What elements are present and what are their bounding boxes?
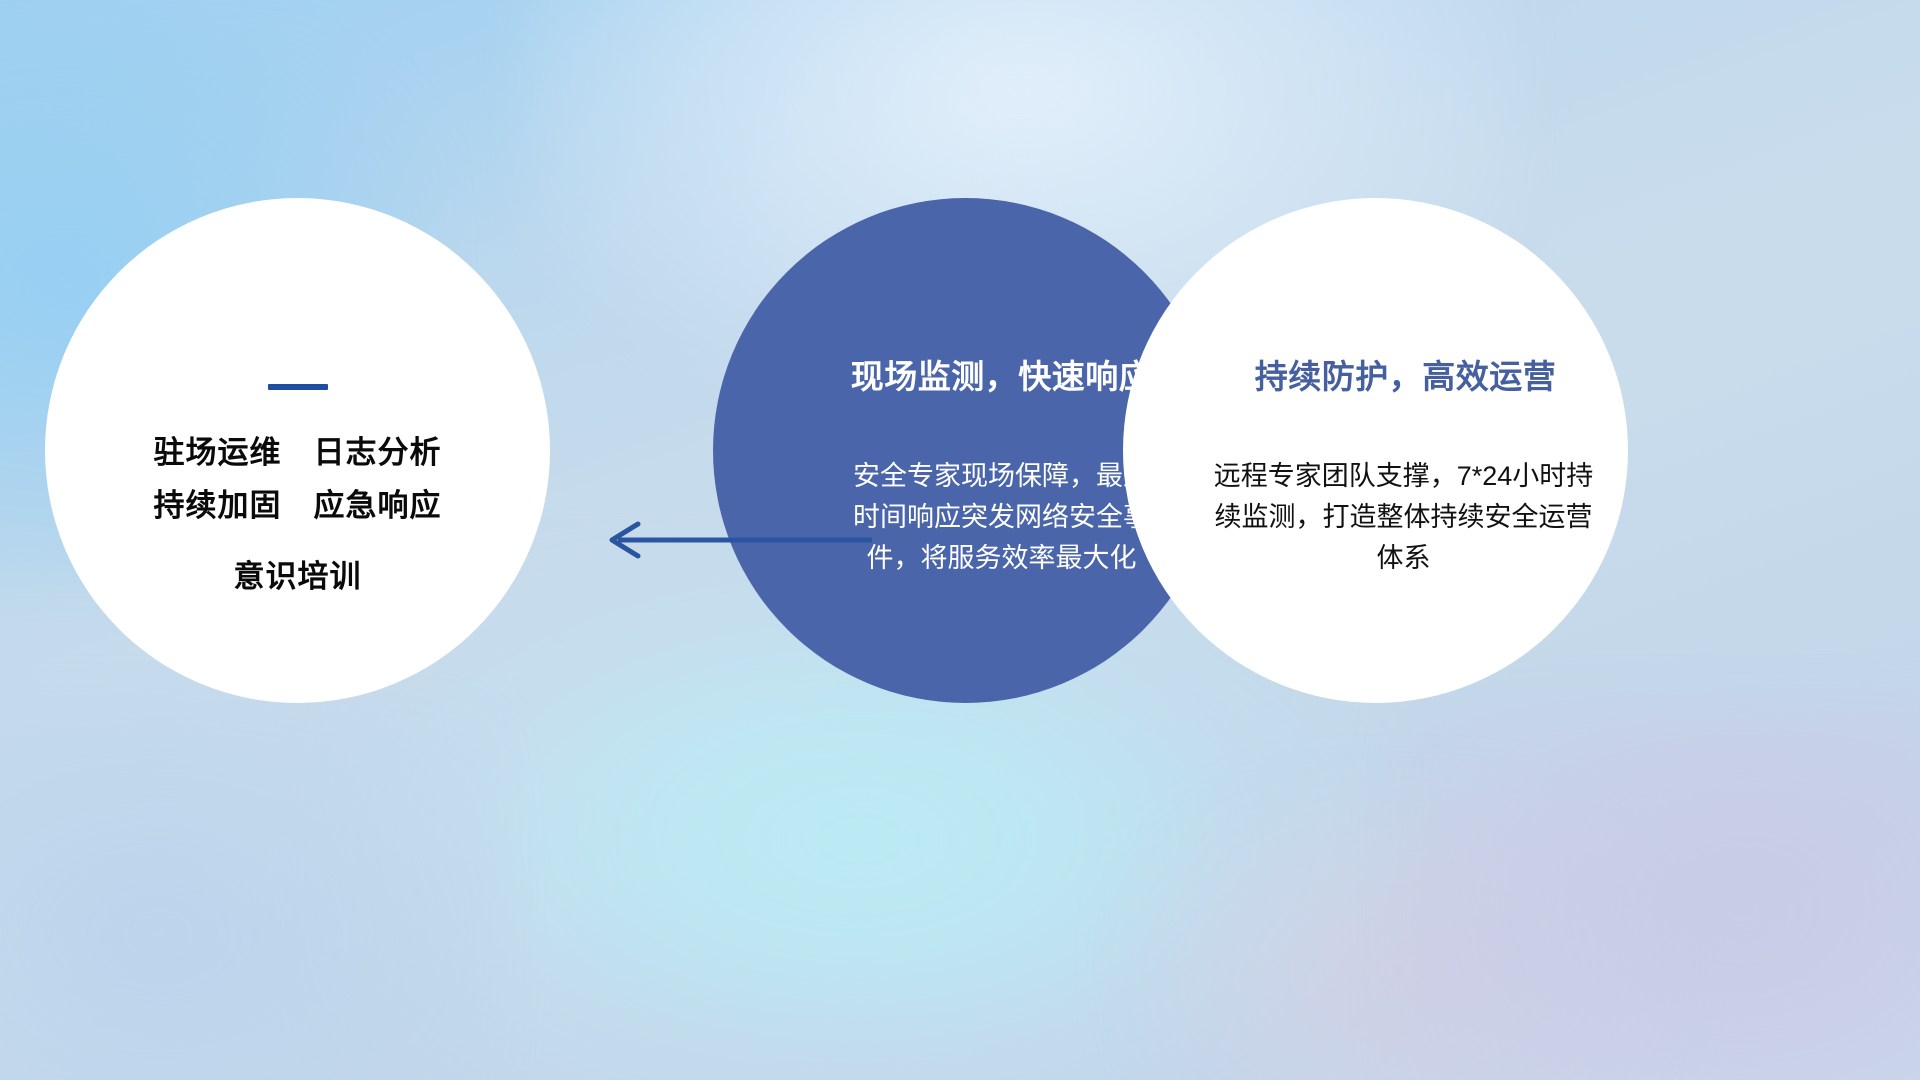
onsite-monitoring-title: 现场监测，快速响应	[851, 350, 1153, 398]
capabilities-list: 驻场运维 日志分析 持续加固 应急响应 意识培训	[154, 434, 442, 596]
capabilities-line-3: 意识培训	[234, 558, 362, 597]
capabilities-line-1: 驻场运维 日志分析	[154, 434, 442, 473]
background-glow-lavender-bottom-right	[1400, 700, 1920, 1080]
slide-canvas: 驻场运维 日志分析 持续加固 应急响应 意识培训 现场监测，快速响应 安全专家现…	[0, 0, 1920, 1080]
continuous-protection-title: 持续防护，高效运营	[1255, 350, 1557, 398]
capabilities-line-2: 持续加固 应急响应	[154, 487, 442, 526]
continuous-protection-content: 持续防护，高效运营 远程专家团队支撑，7*24小时持续监测，打造整体持续安全运营…	[1123, 198, 1628, 703]
capabilities-circle-content: 驻场运维 日志分析 持续加固 应急响应 意识培训	[45, 198, 550, 703]
background-glow-bottom-left	[0, 700, 500, 1080]
onsite-monitoring-body: 安全专家现场保障，最短时间响应突发网络安全事件，将服务效率最大化	[847, 456, 1157, 579]
continuous-protection-body: 远程专家团队支撑，7*24小时持续监测，打造整体持续安全运营体系	[1204, 456, 1604, 579]
divider-rule	[268, 384, 328, 390]
